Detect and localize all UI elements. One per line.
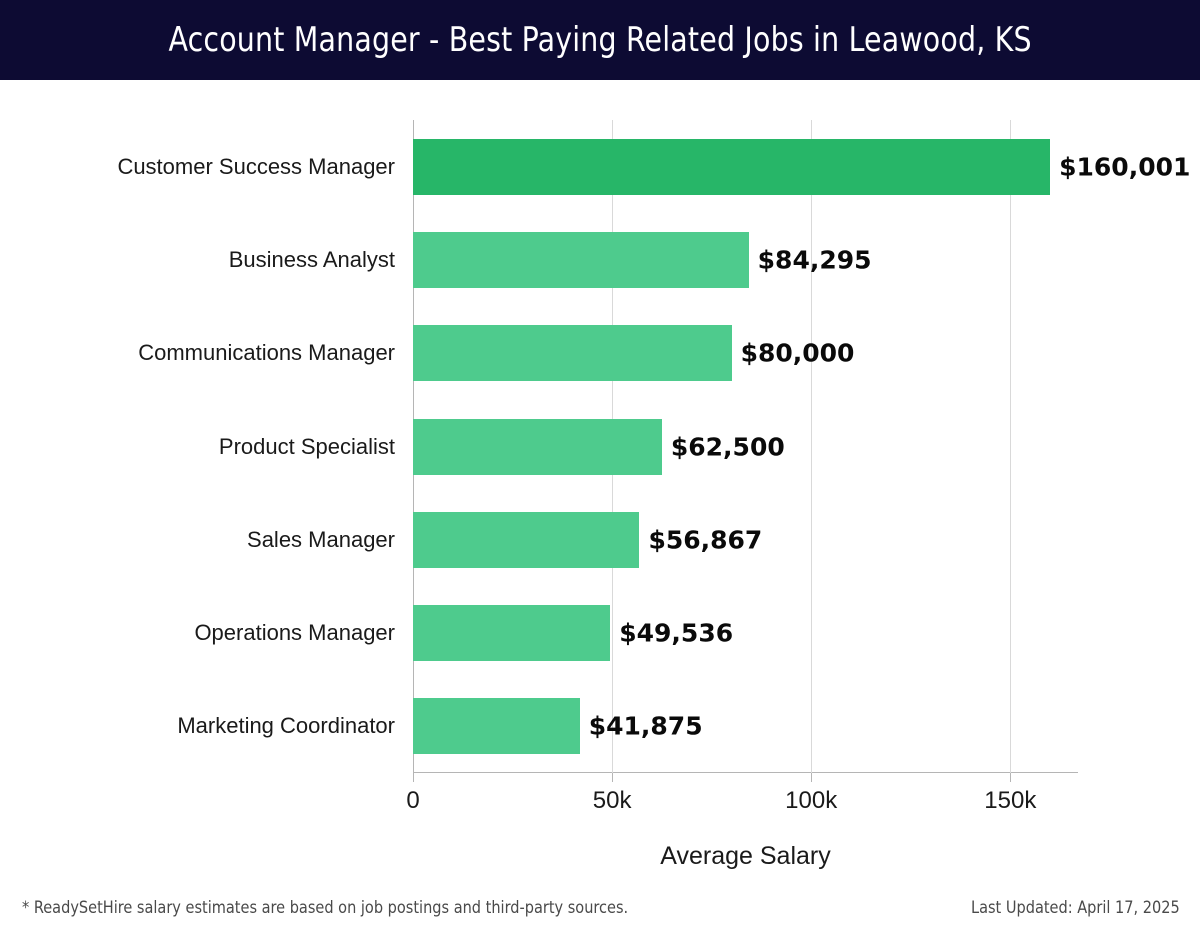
x-axis-tick bbox=[1010, 773, 1011, 782]
y-axis-tick-label: Product Specialist bbox=[15, 419, 395, 475]
footer-disclaimer: * ReadySetHire salary estimates are base… bbox=[22, 898, 628, 918]
bar[interactable] bbox=[413, 512, 639, 568]
x-axis-title: Average Salary bbox=[413, 842, 1078, 871]
title-bar: Account Manager - Best Paying Related Jo… bbox=[0, 0, 1200, 80]
bar[interactable] bbox=[413, 419, 662, 475]
x-axis-tick-label: 50k bbox=[593, 787, 632, 815]
footer: * ReadySetHire salary estimates are base… bbox=[0, 890, 1200, 940]
bar[interactable] bbox=[413, 605, 610, 661]
x-axis-tick bbox=[413, 773, 414, 782]
y-axis-tick-label: Sales Manager bbox=[15, 512, 395, 568]
bar[interactable] bbox=[413, 698, 580, 754]
chart-canvas: $160,001$84,295$80,000$62,500$56,867$49,… bbox=[0, 80, 1200, 880]
bar-row[interactable]: $49,536 bbox=[413, 605, 1078, 661]
y-axis-tick-label: Communications Manager bbox=[15, 325, 395, 381]
bar[interactable] bbox=[413, 232, 749, 288]
bar-value-label: $84,295 bbox=[758, 245, 872, 274]
bar-value-label: $49,536 bbox=[619, 619, 733, 648]
bar-row[interactable]: $84,295 bbox=[413, 232, 1078, 288]
plot-area: $160,001$84,295$80,000$62,500$56,867$49,… bbox=[413, 120, 1078, 773]
bar-value-label: $41,875 bbox=[589, 712, 703, 741]
x-axis-tick bbox=[612, 773, 613, 782]
x-axis-tick bbox=[811, 773, 812, 782]
y-axis-tick-label: Business Analyst bbox=[15, 232, 395, 288]
bar-value-label: $80,000 bbox=[741, 339, 855, 368]
bar-value-label: $62,500 bbox=[671, 432, 785, 461]
footer-last-updated: Last Updated: April 17, 2025 bbox=[971, 898, 1180, 918]
bar-value-label: $56,867 bbox=[648, 525, 762, 554]
bar[interactable] bbox=[413, 139, 1050, 195]
bar-row[interactable]: $62,500 bbox=[413, 419, 1078, 475]
x-axis-tick-label: 0 bbox=[406, 787, 419, 815]
bar-row[interactable]: $56,867 bbox=[413, 512, 1078, 568]
y-axis-tick-label: Operations Manager bbox=[15, 605, 395, 661]
x-axis-tick-label: 150k bbox=[984, 787, 1036, 815]
x-axis-tick-label: 100k bbox=[785, 787, 837, 815]
y-axis-tick-label: Customer Success Manager bbox=[15, 139, 395, 195]
bar-row[interactable]: $160,001 bbox=[413, 139, 1078, 195]
bar-value-label: $160,001 bbox=[1059, 152, 1190, 181]
bar-row[interactable]: $80,000 bbox=[413, 325, 1078, 381]
bar[interactable] bbox=[413, 325, 732, 381]
y-axis-tick-label: Marketing Coordinator bbox=[15, 698, 395, 754]
x-axis-line bbox=[413, 772, 1078, 773]
page-title: Account Manager - Best Paying Related Jo… bbox=[168, 20, 1031, 60]
bar-row[interactable]: $41,875 bbox=[413, 698, 1078, 754]
